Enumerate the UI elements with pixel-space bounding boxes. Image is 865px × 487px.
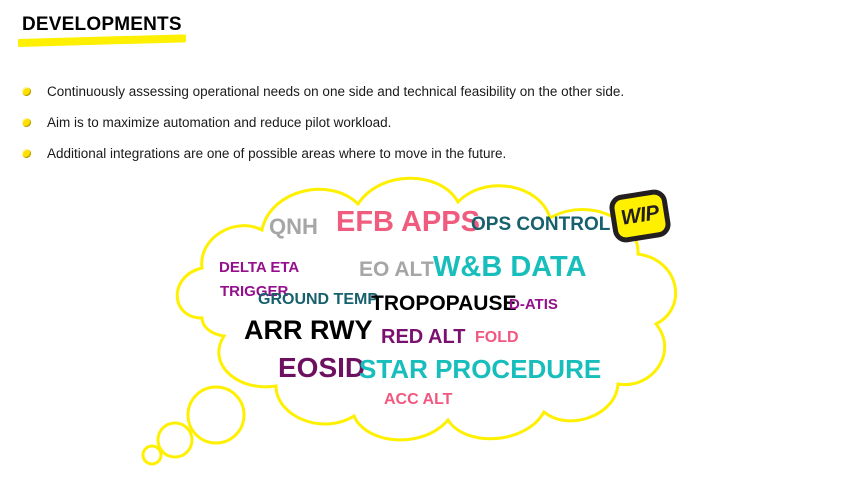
word-cloud-item: EOSID bbox=[278, 354, 365, 382]
bullet-point-icon bbox=[22, 149, 31, 158]
word-cloud-item: EO ALT bbox=[359, 259, 434, 280]
bullet-list: Continuously assessing operational needs… bbox=[22, 83, 722, 176]
list-item: Aim is to maximize automation and reduce… bbox=[22, 114, 722, 132]
word-cloud-item: OPS CONTROL bbox=[471, 215, 610, 234]
word-cloud-item: STAR PROCEDURE bbox=[359, 356, 601, 382]
bullet-point-icon bbox=[22, 118, 31, 127]
word-cloud-item: QNH bbox=[269, 216, 318, 238]
word-cloud-item: GROUND TEMP bbox=[258, 292, 378, 308]
word-cloud-item: D-ATIS bbox=[509, 297, 558, 312]
page-title: DEVELOPMENTS bbox=[22, 14, 182, 36]
word-cloud-item: FOLD bbox=[475, 330, 519, 346]
word-cloud-item: ACC ALT bbox=[384, 392, 452, 408]
word-cloud-item: RED ALT bbox=[381, 327, 465, 347]
wip-badge-label: WIP bbox=[619, 201, 660, 231]
list-item-label: Continuously assessing operational needs… bbox=[47, 83, 624, 100]
word-cloud-item: W&B DATA bbox=[433, 253, 587, 282]
bullet-point-icon bbox=[22, 87, 31, 96]
word-cloud-item: DELTA ETA bbox=[219, 260, 299, 275]
list-item-label: Additional integrations are one of possi… bbox=[47, 145, 506, 162]
list-item-label: Aim is to maximize automation and reduce… bbox=[47, 114, 391, 131]
wip-badge: WIP bbox=[608, 188, 673, 244]
word-cloud-item: EFB APPS bbox=[336, 208, 480, 237]
list-item: Continuously assessing operational needs… bbox=[22, 83, 722, 101]
word-cloud-item: ARR RWY bbox=[244, 317, 373, 344]
word-cloud-item: TROPOPAUSE bbox=[371, 293, 516, 314]
title-underline-highlight bbox=[18, 34, 186, 47]
list-item: Additional integrations are one of possi… bbox=[22, 145, 722, 163]
